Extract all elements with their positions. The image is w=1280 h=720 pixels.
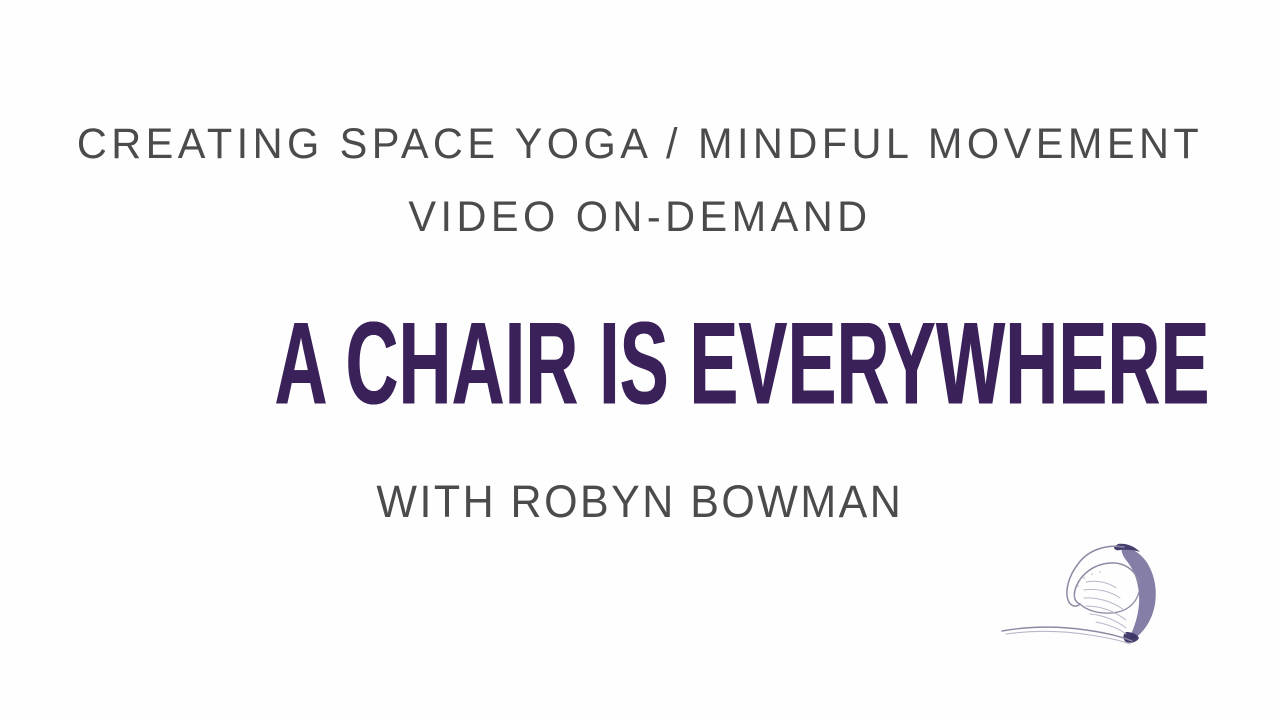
program-eyebrow-line-1: CREATING SPACE YOGA / MINDFUL MOVEMENT <box>22 108 1257 181</box>
wave-icon <box>1000 534 1180 649</box>
wave-speckle-4 <box>1077 585 1079 587</box>
wave-speckle-3 <box>1099 571 1101 573</box>
page-title-text: A CHAIR IS EVERYWHERE <box>275 304 1210 421</box>
title-card: CREATING SPACE YOGA / MINDFUL MOVEMENT V… <box>0 0 1280 720</box>
wave-speckle-1 <box>1083 577 1085 579</box>
wave-foam-line-1 <box>1086 581 1116 588</box>
wave-speckle-2 <box>1091 573 1093 575</box>
instructor-byline-text: WITH ROBYN BOWMAN <box>377 474 904 530</box>
wave-speckle-5 <box>1073 595 1075 597</box>
page-title: A CHAIR IS EVERYWHERE <box>0 305 1280 421</box>
instructor-byline: WITH ROBYN BOWMAN <box>0 474 1280 530</box>
wave-foam-line-2 <box>1084 589 1120 598</box>
program-eyebrow-line-2: VIDEO ON-DEMAND <box>22 181 1257 254</box>
wave-tail-line-secondary <box>1006 631 1130 644</box>
wave-logo <box>1000 534 1180 649</box>
program-eyebrow: CREATING SPACE YOGA / MINDFUL MOVEMENT V… <box>0 108 1280 254</box>
video-title-card-frame: CREATING SPACE YOGA / MINDFUL MOVEMENT V… <box>0 0 1280 720</box>
